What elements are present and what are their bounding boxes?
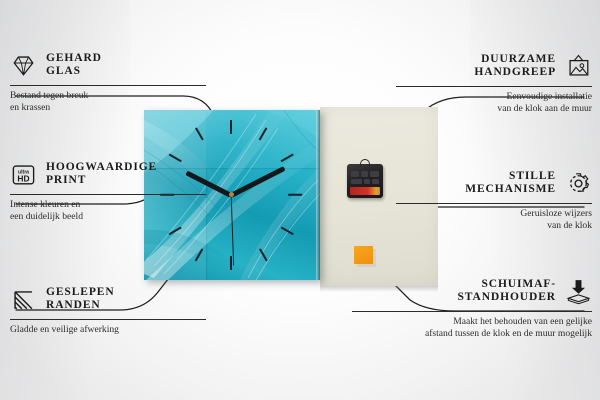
movement-detail (372, 179, 379, 184)
movement-detail (364, 179, 370, 184)
clock-center-cap (229, 192, 234, 197)
feature-title: SCHUIMAF- STANDHOUDER (457, 278, 556, 305)
feature-hoogwaardige-print: ultra HD HOOGWAARDIGE PRINT Intense kleu… (10, 157, 206, 222)
divider (396, 203, 592, 204)
feature-header: STILLE MECHANISME (396, 166, 592, 200)
feature-geslepen-randen: GESLEPEN RANDEN Gladde en veilige afwerk… (10, 282, 206, 336)
gear-icon (565, 170, 592, 197)
movement-detail (351, 171, 359, 177)
press-pad-icon (565, 278, 592, 305)
feature-duurzame-handgreep: DUURZAME HANDGREEP Eenvoudige installati… (396, 49, 592, 114)
hanging-hook-icon (360, 159, 370, 166)
feature-title: GESLEPEN RANDEN (46, 286, 115, 313)
feature-description: Bestand tegen breuk en krassen (10, 90, 206, 113)
feature-title: HOOGWAARDIGE PRINT (46, 161, 157, 188)
feature-title: DUURZAME HANDGREEP (474, 53, 556, 80)
diagonal-lines-icon (10, 286, 37, 313)
feature-title: STILLE MECHANISME (465, 170, 556, 197)
divider (396, 86, 592, 87)
divider (10, 194, 206, 195)
divider (352, 311, 592, 312)
feature-title: GEHARD GLAS (46, 52, 102, 79)
foam-standoff-pad (354, 246, 373, 264)
hanging-picture-icon (565, 53, 592, 80)
feature-description: Eenvoudige installatie van de klok aan d… (396, 91, 592, 114)
feature-header: SCHUIMAF- STANDHOUDER (352, 274, 592, 308)
feature-description: Intense kleuren en een duidelijk beeld (10, 199, 206, 222)
feature-description: Maakt het behouden van een gelijke afsta… (352, 316, 592, 339)
clock-movement (347, 164, 383, 198)
divider (10, 319, 206, 320)
feature-header: GEHARD GLAS (10, 48, 206, 82)
feature-gehard-glas: GEHARD GLAS Bestand tegen breuk en krass… (10, 48, 206, 113)
feature-header: GESLEPEN RANDEN (10, 282, 206, 316)
feature-stille-mechanisme: STILLE MECHANISME Geruisloze wijzers van… (396, 166, 592, 231)
movement-detail (370, 171, 379, 177)
svg-text:HD: HD (17, 173, 29, 183)
movement-detail (361, 171, 368, 177)
clock-glass-edge (316, 110, 320, 280)
divider (10, 85, 206, 86)
feature-description: Geruisloze wijzers van de klok (396, 208, 592, 231)
feature-schuimaf-standhouder: SCHUIMAF- STANDHOUDER Maakt het behouden… (352, 274, 592, 339)
feature-header: ultra HD HOOGWAARDIGE PRINT (10, 157, 206, 191)
ultra-hd-icon: ultra HD (10, 161, 37, 188)
feature-header: DUURZAME HANDGREEP (396, 49, 592, 83)
diamond-icon (10, 52, 37, 79)
battery (350, 187, 380, 195)
infographic-canvas: GEHARD GLAS Bestand tegen breuk en krass… (0, 0, 600, 400)
movement-detail (351, 179, 362, 184)
feature-description: Gladde en veilige afwerking (10, 324, 206, 336)
